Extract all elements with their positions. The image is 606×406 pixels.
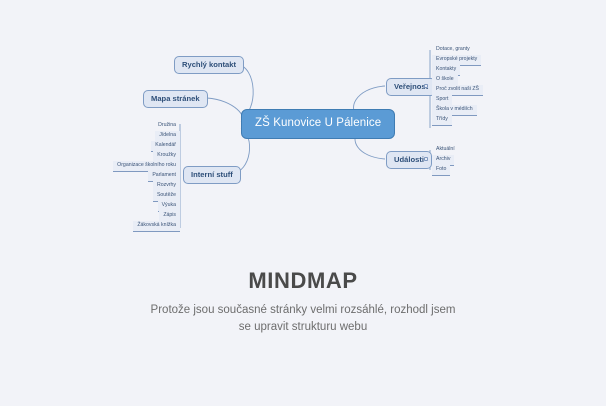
branch-node-verejnost[interactable]: Veřejnost: [386, 78, 436, 96]
leaf-item[interactable]: Družina: [154, 121, 180, 131]
caption-block: MINDMAP Protože jsou současné stránky ve…: [0, 268, 606, 337]
mindmap-canvas: ZŠ Kunovice U Pálenice Rychlý kontakt Ma…: [0, 0, 606, 260]
leaf-item[interactable]: Foto: [432, 165, 450, 176]
page-title: MINDMAP: [0, 268, 606, 294]
branch-node-rychly-kontakt[interactable]: Rychlý kontakt: [174, 56, 244, 74]
collapse-handle-icon-udalosti[interactable]: [424, 157, 428, 161]
leaf-item[interactable]: Třídy: [432, 115, 452, 126]
leaf-item[interactable]: Žákovská knížka: [133, 221, 180, 232]
caption-line-2: se upravit strukturu webu: [0, 319, 606, 336]
central-node[interactable]: ZŠ Kunovice U Pálenice: [241, 109, 395, 139]
caption-line-1: Protože jsou současné stránky velmi rozs…: [0, 302, 606, 319]
leaf-item[interactable]: Aktuální: [432, 145, 459, 155]
collapse-handle-icon-verejnost[interactable]: [424, 84, 428, 88]
branch-node-mapa-stranek[interactable]: Mapa stránek: [143, 90, 208, 108]
leaf-item[interactable]: Dotace, granty: [432, 45, 474, 55]
branch-node-interni-stuff[interactable]: Interní stuff: [183, 166, 241, 184]
